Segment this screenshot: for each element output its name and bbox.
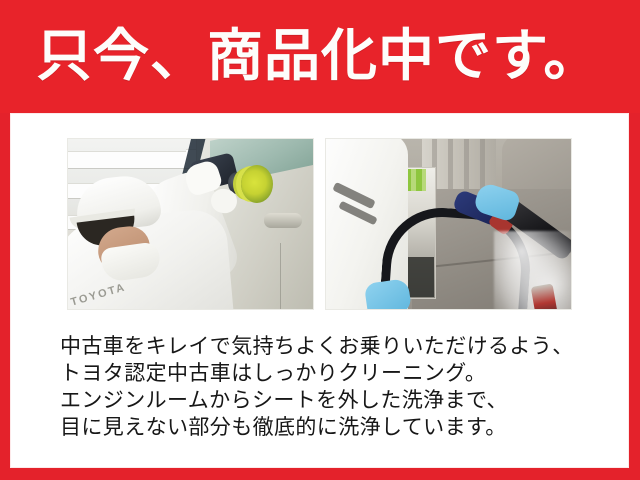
photo-steam-cleaning bbox=[325, 138, 572, 310]
photo-polishing-scene: TOYOTA bbox=[68, 139, 313, 309]
car-body-crease bbox=[280, 243, 281, 309]
worker-glove-blue bbox=[364, 278, 412, 309]
body-copy-line-2: トヨタ認定中古車はしっかりクリーニング。 bbox=[60, 360, 600, 387]
body-copy-line-1: 中古車をキレイで気持ちよくお乗りいただけるよう、 bbox=[60, 333, 600, 360]
promo-poster: 只今、商品化中です。 bbox=[0, 0, 640, 480]
body-copy-line-3: エンジンルームからシートを外した洗浄まで、 bbox=[60, 387, 600, 414]
body-copy-line-4: 目に見えない部分も徹底的に洗浄しています。 bbox=[60, 414, 600, 441]
page-title: 只今、商品化中です。 bbox=[36, 26, 600, 88]
photo-polishing: TOYOTA bbox=[67, 138, 314, 310]
polisher-pad bbox=[241, 165, 273, 203]
photo-row: TOYOTA bbox=[11, 114, 628, 319]
header-band: 只今、商品化中です。 bbox=[0, 0, 640, 113]
photo-steam-scene bbox=[326, 139, 571, 309]
content-panel: TOYOTA bbox=[11, 114, 628, 467]
body-copy: 中古車をキレイで気持ちよくお乗りいただけるよう、 トヨタ認定中古車はしっかりクリ… bbox=[60, 333, 600, 441]
car-door-handle bbox=[264, 213, 302, 228]
